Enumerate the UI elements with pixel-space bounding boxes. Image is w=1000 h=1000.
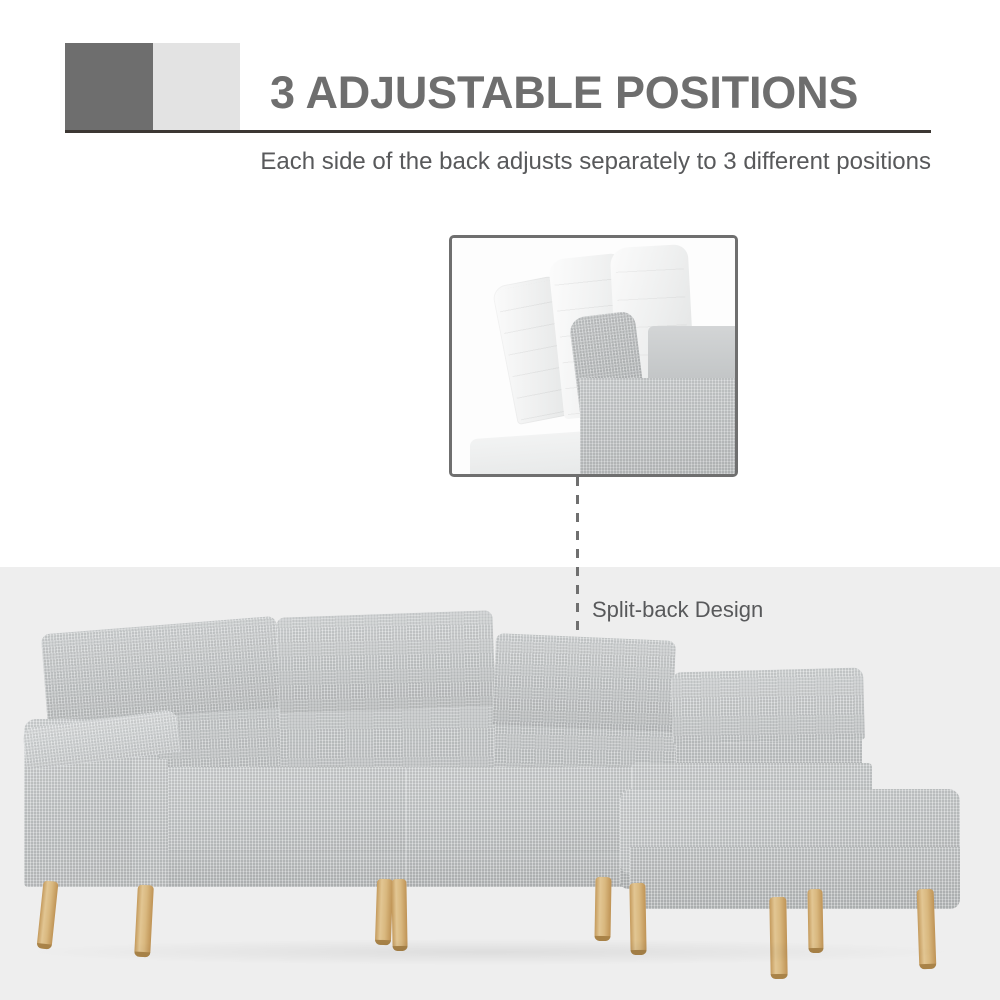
ottoman-front <box>630 847 960 909</box>
sofa-backrest-middle <box>276 610 495 713</box>
inset-armrest-top <box>648 326 738 381</box>
marketing-image-page: 3 ADJUSTABLE POSITIONS Each side of the … <box>0 0 1000 1000</box>
inset-armrest-front <box>580 378 738 477</box>
sofa-leg <box>594 877 611 941</box>
header: 3 ADJUSTABLE POSITIONS Each side of the … <box>0 0 1000 190</box>
product-photo <box>0 567 1000 1000</box>
sofa-armrest-inner <box>132 759 168 887</box>
color-swatch-group <box>65 43 240 131</box>
sofa-seat-left <box>150 767 410 859</box>
swatch-light <box>153 43 240 131</box>
inset-detail-photo <box>449 235 738 477</box>
ottoman-leg <box>769 897 787 979</box>
sofa-backrest-left <box>41 616 283 726</box>
leg-foot-cap <box>771 974 788 979</box>
swatch-dark <box>65 43 153 131</box>
chaise-backrest <box>671 667 865 744</box>
floor-shadow <box>30 939 950 965</box>
sofa-seat-middle <box>406 767 636 859</box>
page-title: 3 ADJUSTABLE POSITIONS <box>270 63 930 123</box>
sofa-leg <box>375 879 393 946</box>
sofa-backrest-right <box>492 633 676 733</box>
header-divider-rule <box>65 130 931 133</box>
sofa-seat-front-left <box>150 851 410 887</box>
inset-photo-canvas <box>452 238 735 474</box>
page-subtitle: Each side of the back adjusts separately… <box>65 145 931 179</box>
